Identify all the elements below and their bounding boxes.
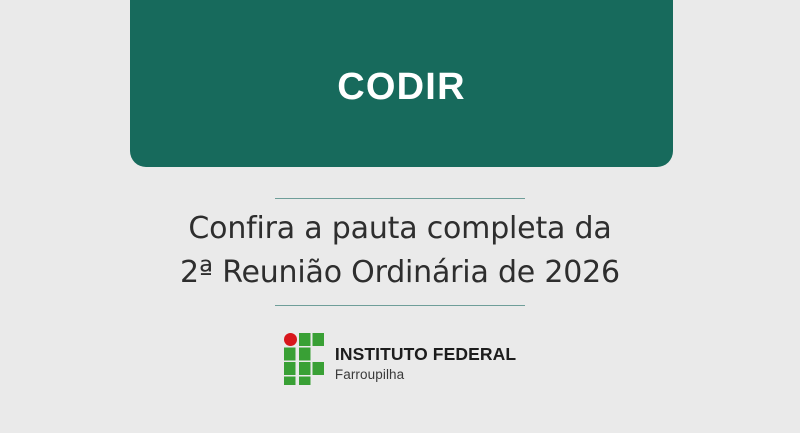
logo-inner: INSTITUTO FEDERAL Farroupilha <box>284 333 516 385</box>
headline-text: Confira a pauta completa da 2ª Reunião O… <box>180 207 620 296</box>
logo-wordmark: INSTITUTO FEDERAL Farroupilha <box>335 346 516 381</box>
codir-announcement-banner: CODIR Confira a pauta completa da 2ª Reu… <box>0 0 800 433</box>
headline-block: Confira a pauta completa da 2ª Reunião O… <box>0 198 800 306</box>
headline-line-1: Confira a pauta completa da <box>188 207 611 251</box>
divider-bottom <box>275 305 525 306</box>
instituto-federal-grid-mark <box>284 333 325 385</box>
logo-title: INSTITUTO FEDERAL <box>335 346 516 364</box>
header-card: CODIR <box>130 0 673 167</box>
headline-line-2: 2ª Reunião Ordinária de 2026 <box>180 251 620 295</box>
page-title: CODIR <box>337 68 465 106</box>
instituto-federal-logo: INSTITUTO FEDERAL Farroupilha <box>0 333 800 385</box>
divider-top <box>275 198 525 199</box>
logo-subtitle: Farroupilha <box>335 368 516 382</box>
